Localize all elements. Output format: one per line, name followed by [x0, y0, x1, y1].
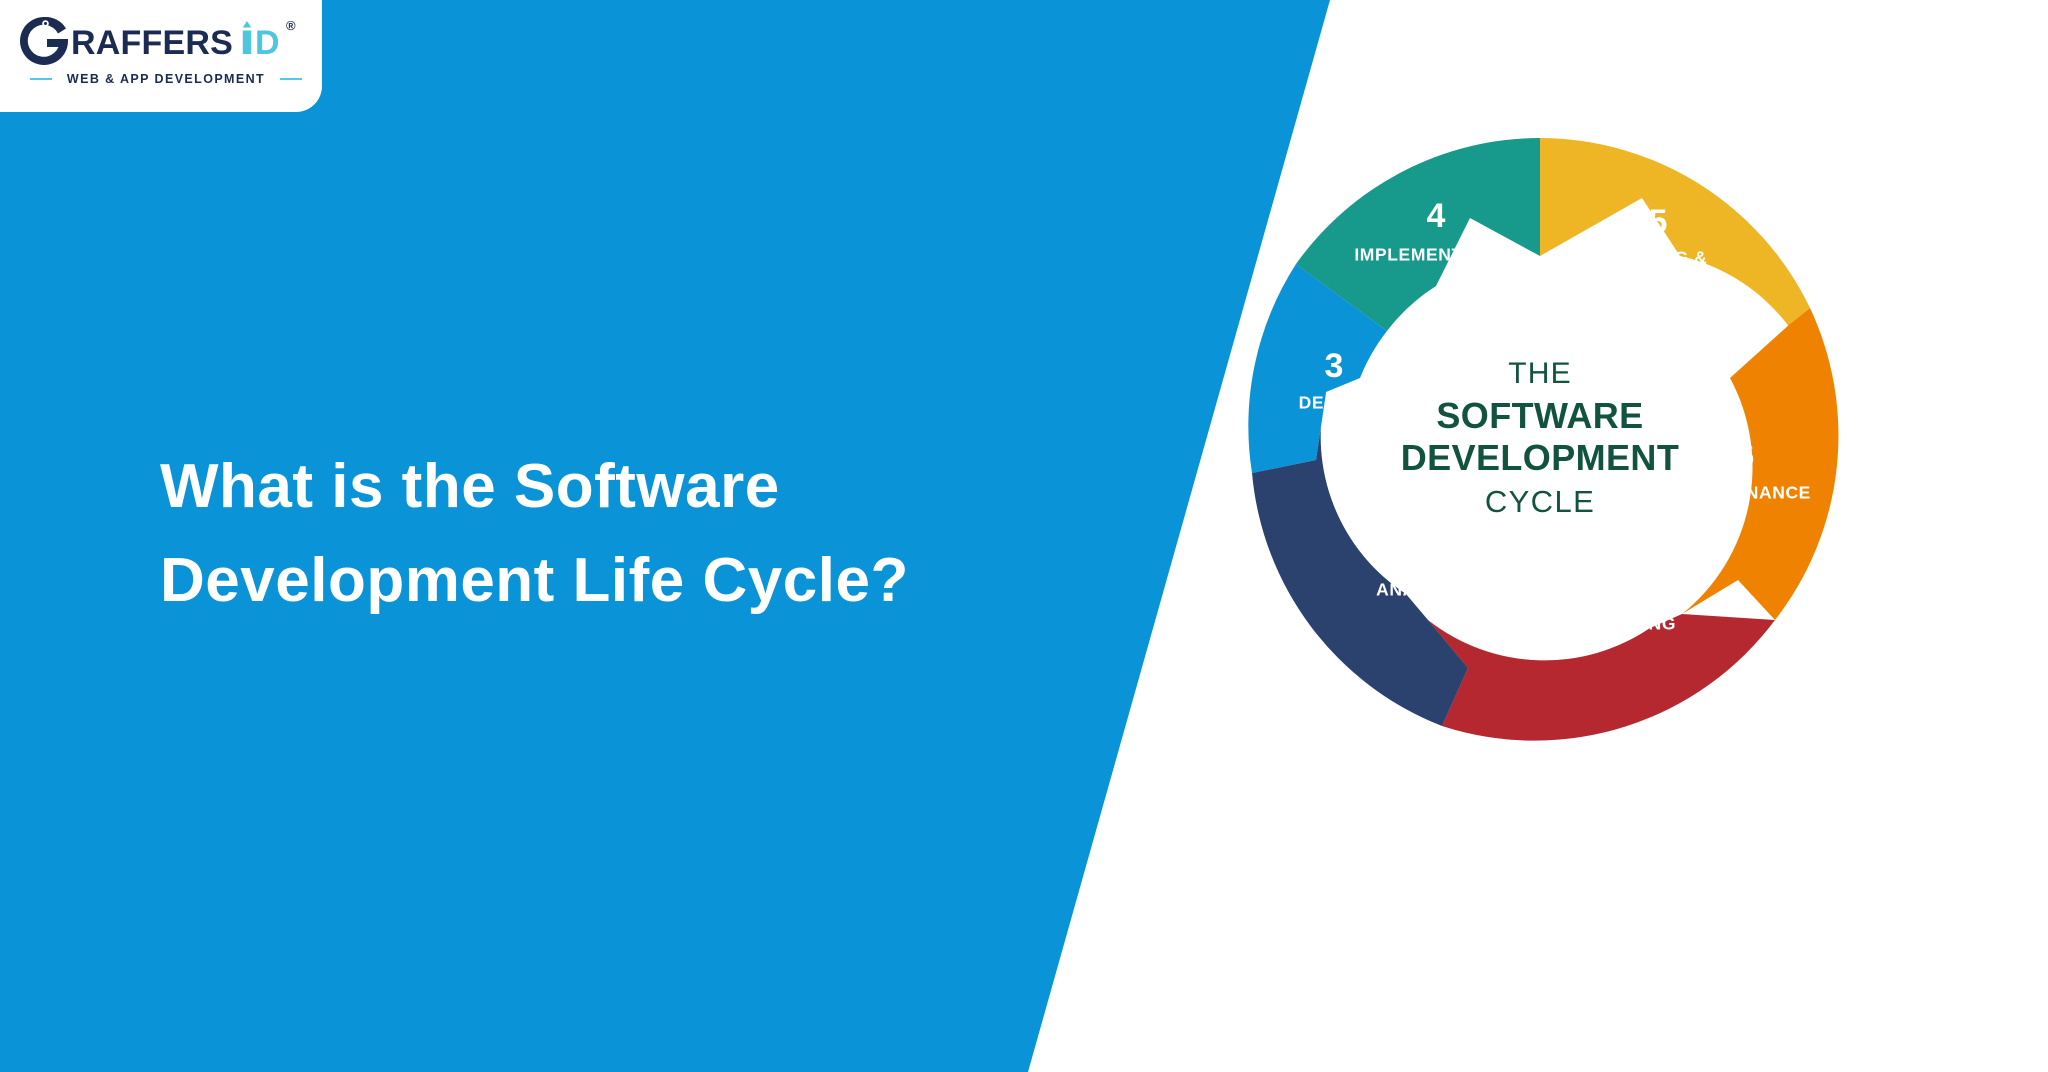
page-title-line-1: What is the Software [160, 440, 920, 534]
segment-5-label-line-1: TESTING & [1609, 248, 1708, 268]
logo-i-glyph [243, 21, 251, 54]
page-title-line-2: Development Life Cycle? [160, 534, 920, 628]
wheel-hub: THE SOFTWARE DEVELOPMENT CYCLE [1362, 260, 1718, 616]
logo-tagline-text: WEB & APP DEVELOPMENT [60, 72, 272, 86]
slide-canvas: RAFFERS D ® WEB & APP DEVELOPMENT What i… [0, 0, 2048, 1072]
logo-text-d: D [255, 24, 280, 62]
sdlc-cycle-diagram: 4 IMPLEMENTATION 5 TESTING & INTEGRATION… [1230, 128, 1850, 748]
hub-line-2: SOFTWARE [1436, 395, 1643, 436]
logo-tagline: WEB & APP DEVELOPMENT [30, 72, 302, 86]
segment-1-label: PLANNING [1580, 614, 1676, 634]
logo-badge[interactable]: RAFFERS D ® WEB & APP DEVELOPMENT [0, 0, 322, 112]
registered-icon: ® [286, 18, 296, 33]
segment-4-number: 4 [1427, 197, 1446, 235]
page-title: What is the Software Development Life Cy… [160, 440, 920, 628]
logo-g-glyph [20, 17, 68, 65]
hub-line-3: DEVELOPMENT [1401, 437, 1679, 478]
segment-4-label: IMPLEMENTATION [1354, 245, 1517, 265]
graffersid-wordmark: RAFFERS D ® [14, 14, 314, 68]
sdlc-wheel-svg: 4 IMPLEMENTATION 5 TESTING & INTEGRATION… [1230, 128, 1850, 748]
hub-line-4: CYCLE [1485, 484, 1595, 519]
hub-line-1: THE [1508, 357, 1572, 390]
segment-3-number: 3 [1325, 347, 1344, 385]
logo-text-raffers: RAFFERS [71, 24, 233, 62]
segment-6-number: 6 [1736, 437, 1755, 475]
tagline-dash-left [30, 78, 52, 80]
segment-5-number: 5 [1649, 203, 1668, 241]
segment-3-label: DESIGN [1299, 393, 1370, 413]
logo-inner: RAFFERS D ® WEB & APP DEVELOPMENT [14, 14, 314, 98]
tagline-dash-right [280, 78, 302, 80]
